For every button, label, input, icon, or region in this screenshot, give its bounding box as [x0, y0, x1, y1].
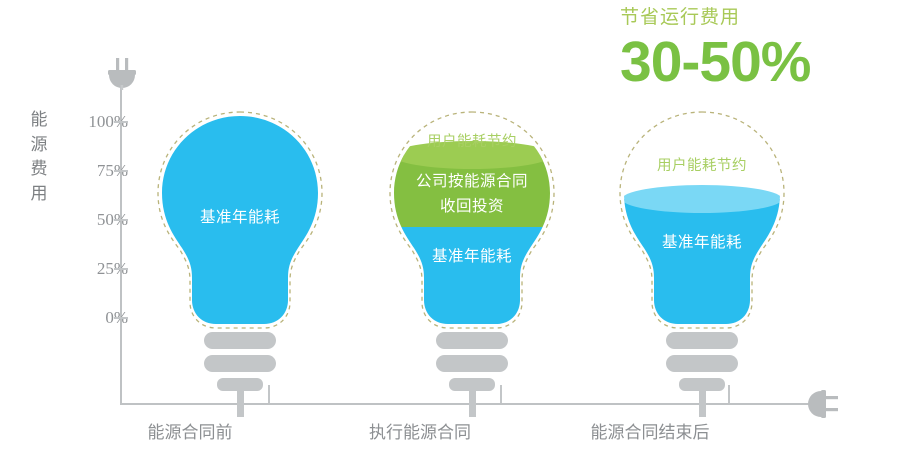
bulb-base — [160, 332, 320, 417]
base-ring-2 — [204, 355, 276, 372]
y-tick-mark — [114, 317, 128, 319]
y-tick-mark — [114, 219, 128, 221]
y-axis-line — [120, 86, 122, 404]
y-tick-mark — [114, 170, 128, 172]
base-ring-2 — [436, 355, 508, 372]
base-ring-1 — [204, 332, 276, 349]
base-ring-1 — [436, 332, 508, 349]
infographic-canvas: 节省运行费用 30-50% 能源费用 100% 75% 50% — [0, 0, 900, 473]
bulb-blue-label: 基准年能耗 — [622, 232, 782, 254]
x-label-before: 能源合同前 — [80, 418, 300, 443]
y-tick-mark — [114, 121, 128, 123]
bulb-blue-label: 基准年能耗 — [392, 246, 552, 268]
base-ring-3 — [217, 378, 263, 391]
base-ring-3 — [679, 378, 725, 391]
base-ring-3 — [449, 378, 495, 391]
plug-icon — [806, 386, 838, 422]
bulb-savings-label: 用户能耗节约 — [622, 154, 782, 175]
base-stem — [237, 391, 244, 417]
bulb-base — [392, 332, 552, 417]
x-label-after: 能源合同结束后 — [540, 418, 760, 443]
bulb-base — [622, 332, 782, 417]
bulb-glass — [622, 114, 782, 326]
x-label-during: 执行能源合同 — [310, 418, 530, 443]
headline-block: 节省运行费用 30-50% — [620, 6, 880, 93]
headline-value: 30-50% — [620, 33, 880, 93]
bulb-green-label-line1: 公司按能源合同 — [392, 171, 552, 193]
bulb-savings-label: 用户能耗节约 — [392, 130, 552, 151]
bulb-green-label-line2: 收回投资 — [392, 196, 552, 218]
headline-kicker: 节省运行费用 — [620, 6, 880, 31]
bulb-blue-label: 基准年能耗 — [160, 207, 320, 229]
base-ring-1 — [666, 332, 738, 349]
y-tick-mark — [114, 268, 128, 270]
base-ring-2 — [666, 355, 738, 372]
base-stem — [469, 391, 476, 417]
plug-icon — [104, 58, 140, 90]
base-stem — [699, 391, 706, 417]
